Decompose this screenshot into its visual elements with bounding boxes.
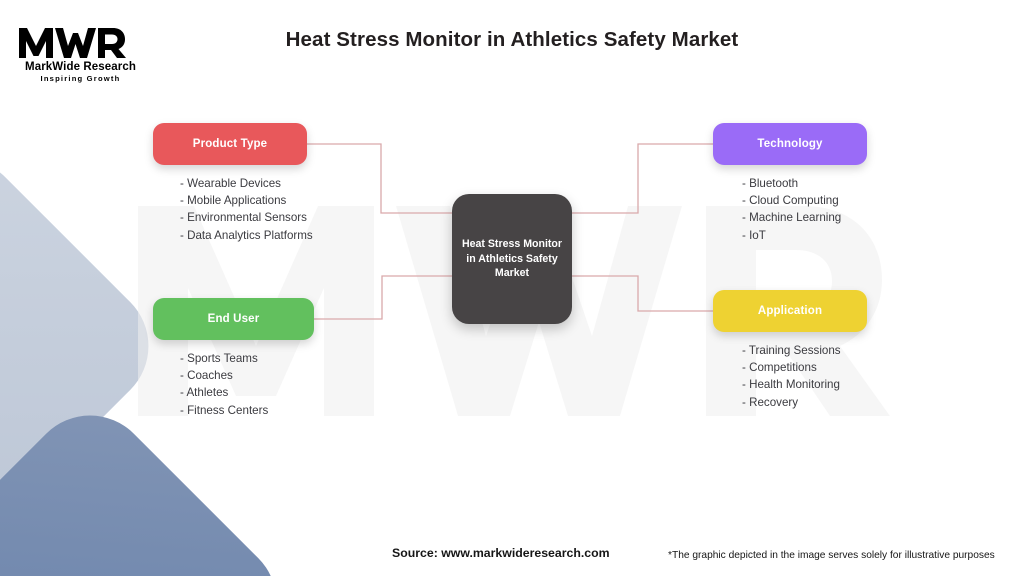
hub-line-3: Market <box>495 267 529 279</box>
list-item: - Sports Teams <box>180 350 314 367</box>
branch-application[interactable]: Application - Training Sessions - Compet… <box>713 290 867 411</box>
list-item: - Bluetooth <box>742 175 867 192</box>
branch-product-type[interactable]: Product Type - Wearable Devices - Mobile… <box>153 123 313 244</box>
list-item: - Training Sessions <box>742 342 867 359</box>
list-item: - Recovery <box>742 394 867 411</box>
source-text: Source: www.markwideresearch.com <box>392 546 610 560</box>
list-item: - Wearable Devices <box>180 175 313 192</box>
branch-items-technology: - Bluetooth - Cloud Computing - Machine … <box>713 175 867 244</box>
branch-label-technology[interactable]: Technology <box>713 123 867 165</box>
list-item: - Coaches <box>180 367 314 384</box>
list-item: - Mobile Applications <box>180 192 313 209</box>
page-title: Heat Stress Monitor in Athletics Safety … <box>0 28 1024 52</box>
list-item: - Athletes <box>180 384 314 401</box>
branch-items-product-type: - Wearable Devices - Mobile Applications… <box>153 175 313 244</box>
list-item: - Data Analytics Platforms <box>180 227 313 244</box>
branch-technology[interactable]: Technology - Bluetooth - Cloud Computing… <box>713 123 867 244</box>
list-item: - Cloud Computing <box>742 192 867 209</box>
branch-label-application[interactable]: Application <box>713 290 867 332</box>
branch-end-user[interactable]: End User - Sports Teams - Coaches - Athl… <box>153 298 314 419</box>
list-item: - Machine Learning <box>742 209 867 226</box>
central-hub-text: Heat Stress Monitor in Athletics Safety … <box>454 237 570 281</box>
branch-items-end-user: - Sports Teams - Coaches - Athletes - Fi… <box>153 350 314 419</box>
branch-items-application: - Training Sessions - Competitions - Hea… <box>713 342 867 411</box>
branch-label-end-user[interactable]: End User <box>153 298 314 340</box>
list-item: - Health Monitoring <box>742 376 867 393</box>
list-item: - IoT <box>742 227 867 244</box>
infographic-canvas: MarkWide Research Inspiring Growth Heat … <box>0 0 1024 576</box>
hub-line-2: in Athletics Safety <box>466 253 557 265</box>
disclaimer-text: *The graphic depicted in the image serve… <box>668 550 995 561</box>
branch-label-product-type[interactable]: Product Type <box>153 123 307 165</box>
central-hub[interactable]: Heat Stress Monitor in Athletics Safety … <box>452 194 572 324</box>
list-item: - Fitness Centers <box>180 402 314 419</box>
list-item: - Environmental Sensors <box>180 209 313 226</box>
hub-line-1: Heat Stress Monitor <box>462 238 562 250</box>
logo-company-name: MarkWide Research <box>18 61 143 73</box>
logo-tagline: Inspiring Growth <box>18 74 143 83</box>
list-item: - Competitions <box>742 359 867 376</box>
